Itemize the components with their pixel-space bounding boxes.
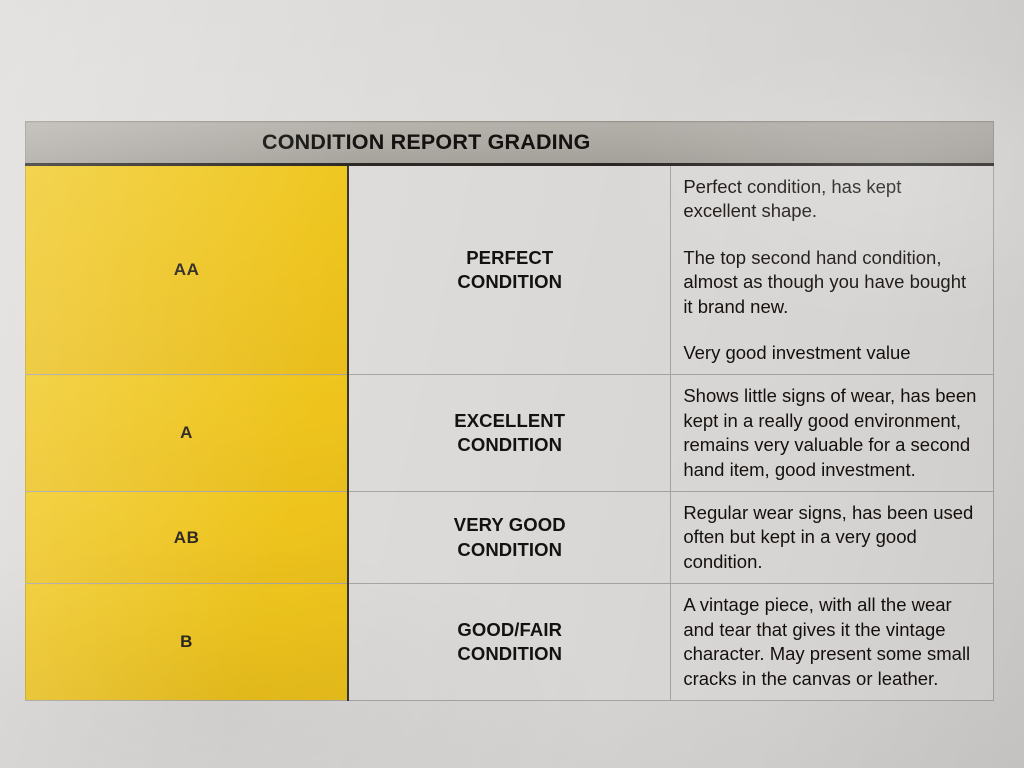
condition-name: VERY GOOD CONDITION bbox=[349, 513, 670, 562]
table-header-row: CONDITION REPORT GRADING bbox=[26, 122, 994, 165]
page-title: CONDITION REPORT GRADING bbox=[262, 130, 591, 154]
description-paragraph: Shows little signs of wear, has been kep… bbox=[683, 384, 979, 482]
description-cell-b: A vintage piece, with all the wear and t… bbox=[671, 584, 994, 701]
description-cell-a: Shows little signs of wear, has been kep… bbox=[671, 375, 994, 492]
condition-name-line1: GOOD/FAIR bbox=[349, 618, 670, 643]
table-row: A EXCELLENT CONDITION Shows little signs… bbox=[26, 375, 994, 492]
description-cell-ab: Regular wear signs, has been used often … bbox=[671, 492, 994, 584]
grade-label: AA bbox=[174, 260, 200, 279]
description-text: Perfect condition, has kept excellent sh… bbox=[683, 175, 979, 365]
table-header: CONDITION REPORT GRADING bbox=[26, 122, 994, 165]
condition-grading-table: CONDITION REPORT GRADING AA PERFECT COND… bbox=[25, 121, 994, 701]
grade-cell-b: B bbox=[26, 584, 349, 701]
condition-name-cell-ab: VERY GOOD CONDITION bbox=[348, 492, 671, 584]
description-text: Regular wear signs, has been used often … bbox=[683, 501, 979, 574]
description-text: A vintage piece, with all the wear and t… bbox=[683, 593, 979, 691]
description-paragraph: Very good investment value bbox=[683, 341, 979, 365]
table-row: AA PERFECT CONDITION Perfect condition, … bbox=[26, 165, 994, 375]
grade-label: B bbox=[180, 632, 193, 651]
condition-name: GOOD/FAIR CONDITION bbox=[349, 618, 670, 667]
condition-name-line1: VERY GOOD bbox=[349, 513, 670, 538]
condition-name-cell-a: EXCELLENT CONDITION bbox=[348, 375, 671, 492]
description-text: Shows little signs of wear, has been kep… bbox=[683, 384, 979, 482]
table-row: B GOOD/FAIR CONDITION A vintage piece, w… bbox=[26, 584, 994, 701]
grade-cell-ab: AB bbox=[26, 492, 349, 584]
description-cell-aa: Perfect condition, has kept excellent sh… bbox=[671, 165, 994, 375]
grade-cell-aa: AA bbox=[26, 165, 349, 375]
description-paragraph: Regular wear signs, has been used often … bbox=[683, 501, 979, 574]
condition-name-line1: PERFECT bbox=[349, 246, 670, 271]
grade-label: AB bbox=[174, 528, 200, 547]
condition-name: EXCELLENT CONDITION bbox=[349, 409, 670, 458]
table-title-cell: CONDITION REPORT GRADING bbox=[26, 122, 994, 165]
grade-label: A bbox=[180, 423, 193, 442]
description-paragraph: The top second hand condition, almost as… bbox=[683, 246, 979, 319]
condition-name-line2: CONDITION bbox=[349, 642, 670, 667]
description-paragraph: A vintage piece, with all the wear and t… bbox=[683, 593, 979, 691]
condition-name-line1: EXCELLENT bbox=[349, 409, 670, 434]
condition-name: PERFECT CONDITION bbox=[349, 246, 670, 295]
paper-sheet: CONDITION REPORT GRADING AA PERFECT COND… bbox=[0, 0, 1024, 768]
condition-name-line2: CONDITION bbox=[349, 270, 670, 295]
table-body: AA PERFECT CONDITION Perfect condition, … bbox=[26, 165, 994, 701]
condition-name-line2: CONDITION bbox=[349, 433, 670, 458]
table-row: AB VERY GOOD CONDITION Regular wear sign… bbox=[26, 492, 994, 584]
grade-cell-a: A bbox=[26, 375, 349, 492]
condition-name-cell-aa: PERFECT CONDITION bbox=[348, 165, 671, 375]
description-paragraph: Perfect condition, has kept excellent sh… bbox=[683, 175, 979, 224]
condition-name-line2: CONDITION bbox=[349, 538, 670, 563]
condition-name-cell-b: GOOD/FAIR CONDITION bbox=[348, 584, 671, 701]
